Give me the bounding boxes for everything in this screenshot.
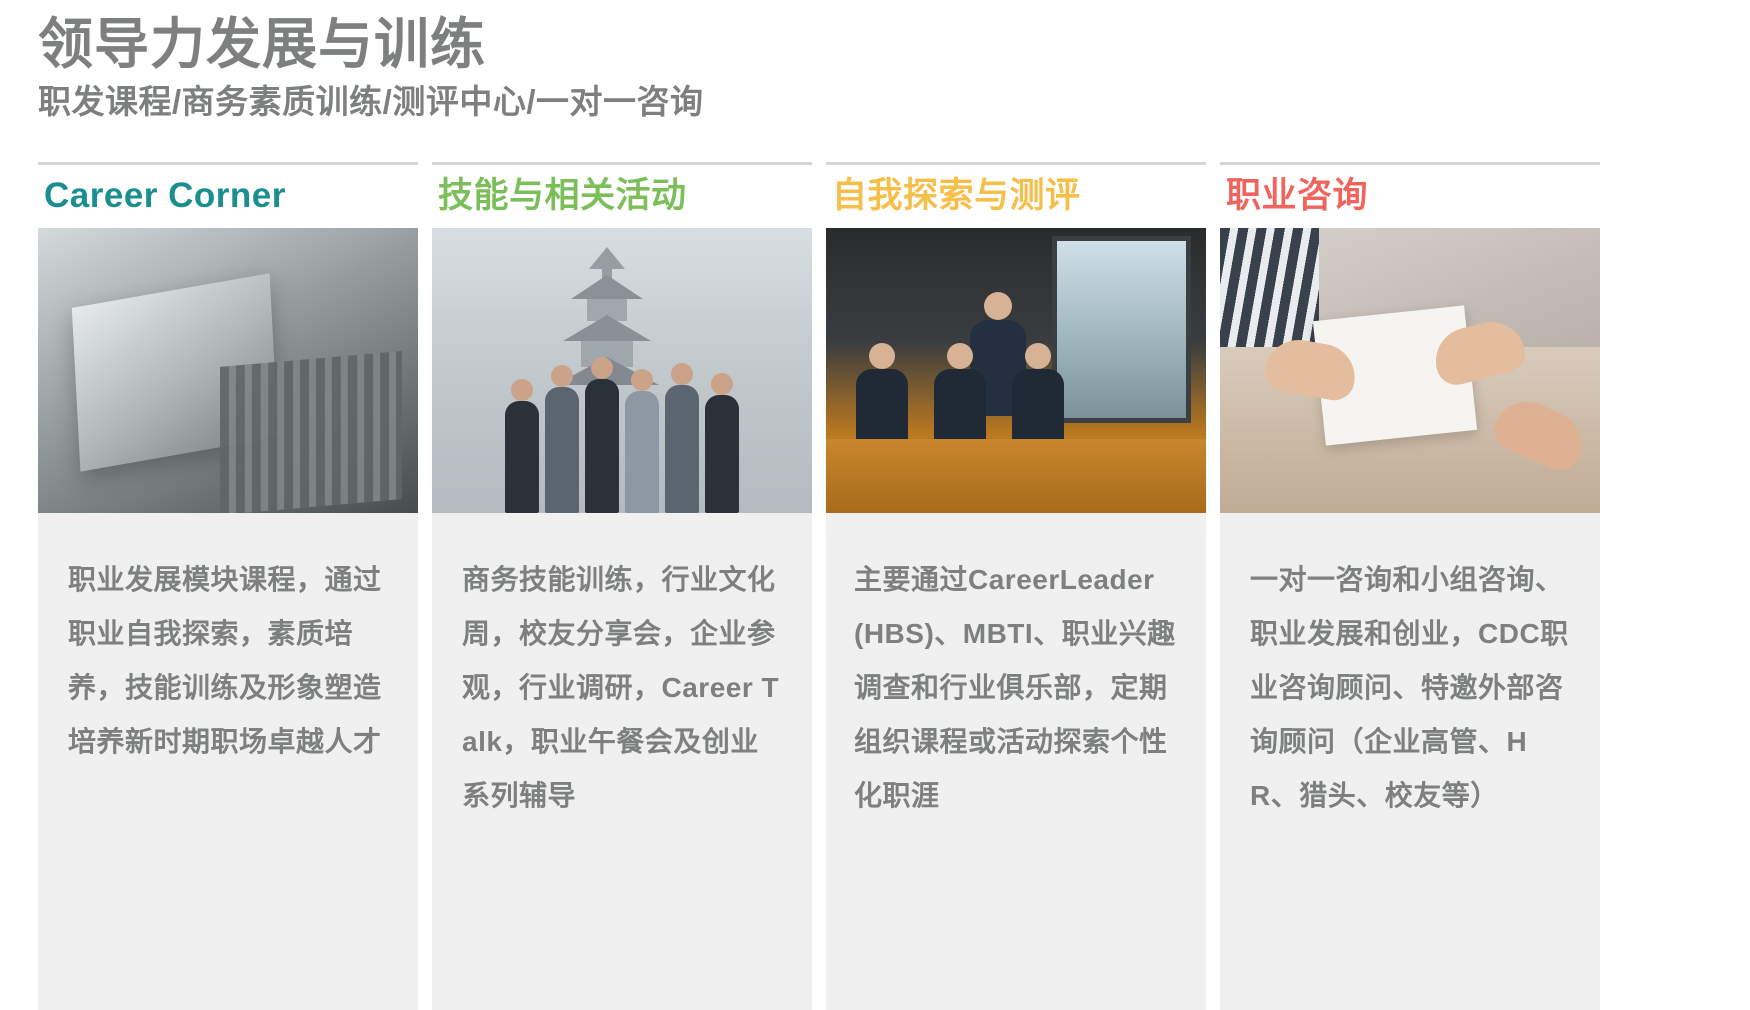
- slide-header: 领导力发展与训练 职发课程/商务素质训练/测评中心/一对一咨询: [38, 14, 1538, 121]
- desk-shape: [826, 439, 1206, 513]
- person-silhouette: [1012, 369, 1064, 439]
- column-card: 商务技能训练，行业文化周，校友分享会，企业参观，行业调研，Career Talk…: [432, 228, 812, 1010]
- column-career-consulting: 职业咨询 一对一咨询和小组咨询、职业发展和创业，CDC职业咨询顾问、特邀外部咨询…: [1220, 162, 1600, 1010]
- page-title: 领导力发展与训练: [38, 14, 1538, 76]
- column-body-text: 职业发展模块课程，通过职业自我探索，素质培养，技能训练及形象塑造培养新时期职场卓…: [38, 513, 418, 793]
- person-silhouette: [625, 391, 659, 513]
- column-body-text: 一对一咨询和小组咨询、职业发展和创业，CDC职业咨询顾问、特邀外部咨询顾问（企业…: [1220, 513, 1600, 847]
- page-subtitle: 职发课程/商务素质训练/测评中心/一对一咨询: [38, 82, 1538, 122]
- students-group-photo: [432, 228, 812, 513]
- column-title: 职业咨询: [1220, 165, 1600, 218]
- column-title: 技能与相关活动: [432, 165, 812, 218]
- column-self-assessment: 自我探索与测评 主要通过CareerLeader(HBS)、MBTI、职业兴趣调…: [826, 162, 1206, 1010]
- seated-people-silhouettes: [856, 369, 1064, 439]
- column-career-corner: Career Corner 职业发展模块课程，通过职业自我探索，素质培养，技能训…: [38, 162, 418, 1010]
- columns-container: Career Corner 职业发展模块课程，通过职业自我探索，素质培养，技能训…: [38, 162, 1718, 1010]
- person-silhouette: [705, 395, 739, 513]
- person-silhouette: [585, 379, 619, 513]
- slide-root: 领导力发展与训练 职发课程/商务素质训练/测评中心/一对一咨询 Career C…: [0, 0, 1750, 1010]
- person-silhouette: [545, 387, 579, 513]
- column-card: 职业发展模块课程，通过职业自我探索，素质培养，技能训练及形象塑造培养新时期职场卓…: [38, 228, 418, 1010]
- column-body-text: 商务技能训练，行业文化周，校友分享会，企业参观，行业调研，Career Talk…: [432, 513, 812, 847]
- people-silhouettes: [432, 325, 812, 513]
- consultation-table-photo: [1220, 228, 1600, 513]
- person-silhouette: [665, 385, 699, 513]
- column-title: Career Corner: [38, 165, 418, 218]
- column-skills-activities: 技能与相关活动: [432, 162, 812, 1010]
- column-card: 一对一咨询和小组咨询、职业发展和创业，CDC职业咨询顾问、特邀外部咨询顾问（企业…: [1220, 228, 1600, 1010]
- column-body-text: 主要通过CareerLeader(HBS)、MBTI、职业兴趣调查和行业俱乐部，…: [826, 513, 1206, 847]
- person-silhouette: [505, 401, 539, 513]
- striped-shirt-shape: [1220, 228, 1319, 348]
- column-card: 主要通过CareerLeader(HBS)、MBTI、职业兴趣调查和行业俱乐部，…: [826, 228, 1206, 1010]
- column-title: 自我探索与测评: [826, 165, 1206, 218]
- person-silhouette: [934, 369, 986, 439]
- window-shape: [1052, 236, 1191, 423]
- person-silhouette: [856, 369, 908, 439]
- laptop-desk-photo: [38, 228, 418, 513]
- meeting-room-photo: [826, 228, 1206, 513]
